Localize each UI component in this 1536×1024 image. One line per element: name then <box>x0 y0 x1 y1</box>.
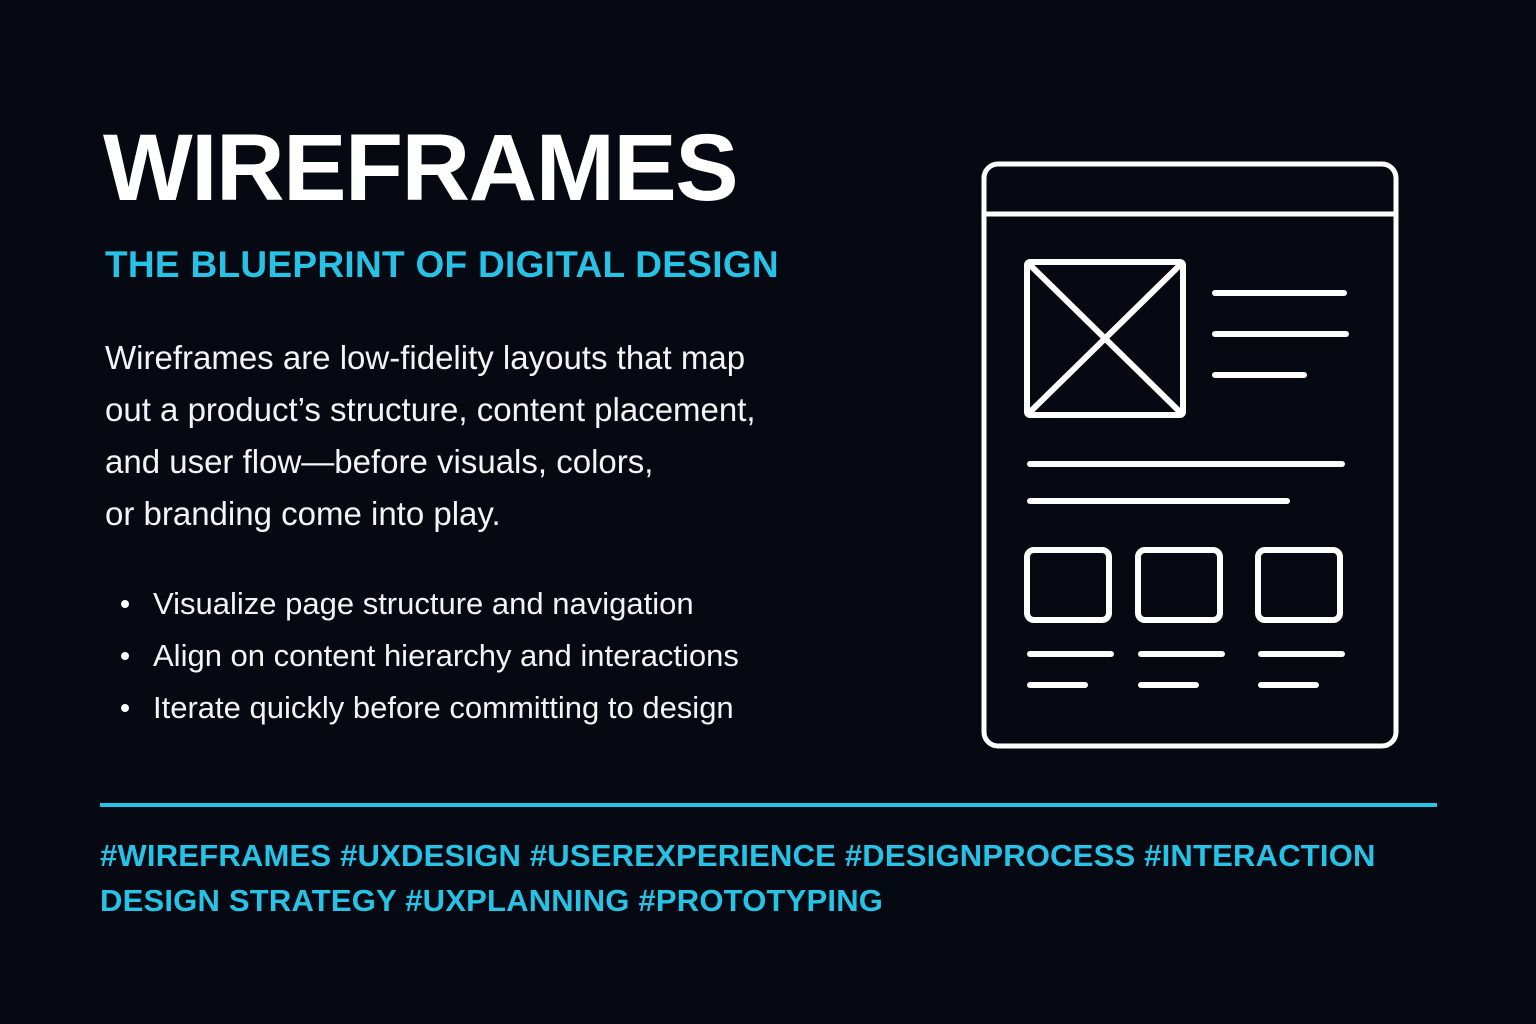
hashtag-line-2: DESIGN STRATEGY #UXPLANNING #PROTOTYPING <box>100 878 1460 923</box>
wireframe-svg <box>978 158 1402 752</box>
hashtag-footer: #WIREFRAMES #UXDESIGN #USEREXPERIENCE #D… <box>100 833 1460 923</box>
body-line-1: Wireframes are low-fidelity layouts that… <box>105 332 963 384</box>
browser-frame-outline <box>984 164 1396 746</box>
hashtag-line-1: #WIREFRAMES #UXDESIGN #USEREXPERIENCE #D… <box>100 833 1460 878</box>
body-line-2: out a product’s structure, content place… <box>105 384 963 436</box>
list-item: Align on content hierarchy and interacti… <box>115 630 963 682</box>
page-subtitle: THE BLUEPRINT OF DIGITAL DESIGN <box>105 244 963 286</box>
benefits-list: Visualize page structure and navigation … <box>115 578 963 734</box>
body-line-3: and user flow—before visuals, colors, <box>105 436 963 488</box>
infographic-canvas: WIREFRAMES THE BLUEPRINT OF DIGITAL DESI… <box>0 0 1536 1024</box>
list-item-label: Iterate quickly before committing to des… <box>153 690 734 725</box>
list-item: Iterate quickly before committing to des… <box>115 682 963 734</box>
content-column: WIREFRAMES THE BLUEPRINT OF DIGITAL DESI… <box>103 120 963 734</box>
wireframe-illustration <box>978 158 1402 752</box>
section-divider <box>100 803 1437 807</box>
image-placeholder-icon <box>1027 262 1183 415</box>
body-paragraph: Wireframes are low-fidelity layouts that… <box>105 332 963 540</box>
list-item-label: Visualize page structure and navigation <box>153 586 694 621</box>
body-line-4: or branding come into play. <box>105 488 963 540</box>
list-item-label: Align on content hierarchy and interacti… <box>153 638 739 673</box>
page-title: WIREFRAMES <box>103 120 963 216</box>
bullet-dot-icon <box>121 704 129 712</box>
card-box <box>1027 550 1109 620</box>
card-captions <box>1030 654 1342 685</box>
bullet-dot-icon <box>121 652 129 660</box>
list-item: Visualize page structure and navigation <box>115 578 963 630</box>
paragraph-lines <box>1030 464 1342 501</box>
side-text-lines <box>1215 293 1346 375</box>
card-box <box>1138 550 1220 620</box>
card-grid <box>1027 550 1340 620</box>
card-box <box>1258 550 1340 620</box>
bullet-dot-icon <box>121 600 129 608</box>
